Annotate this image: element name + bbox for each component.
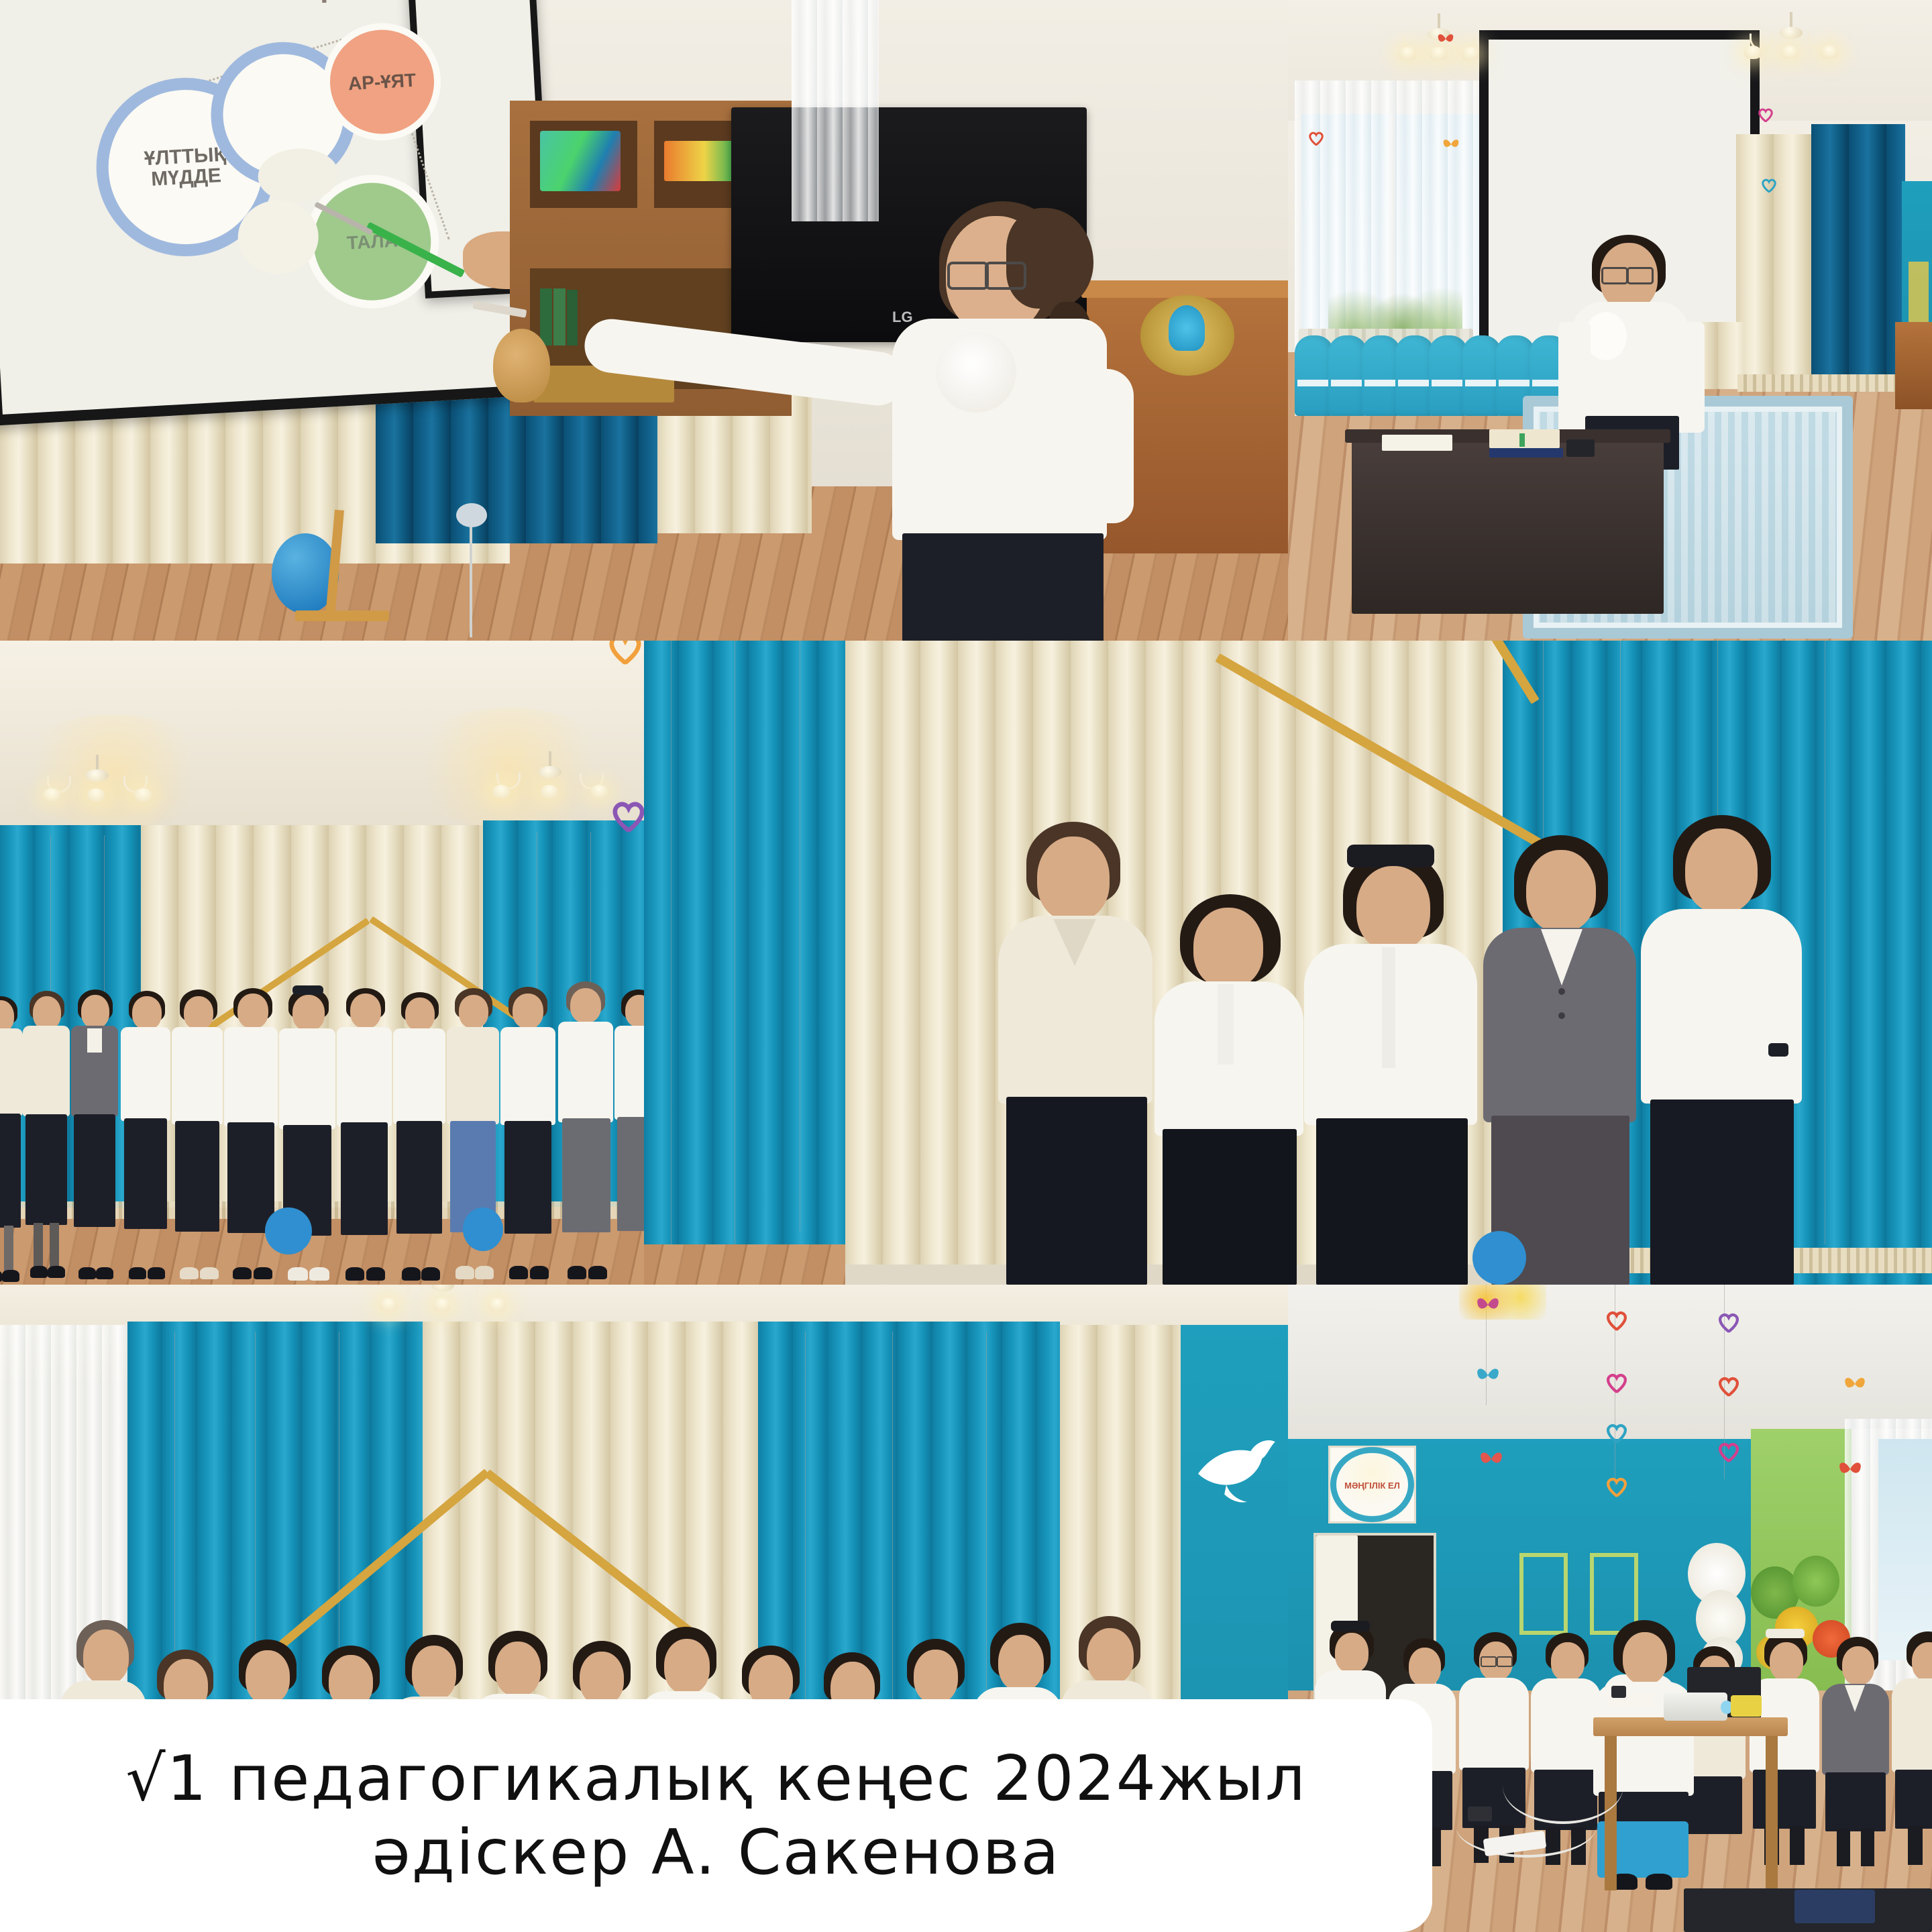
photo-hall-presenter-desk [1288,0,1932,641]
list-item [337,988,392,1285]
slide-title: ЫҚТАРЫ [270,0,431,7]
presenter-person [792,201,1194,641]
list-item [614,989,644,1285]
list-item [393,989,445,1285]
photo-group-five [644,641,1932,1285]
dove-decor [1189,1412,1283,1513]
list-item [121,989,170,1285]
list-item [172,989,223,1285]
list-item [558,985,613,1285]
list-item [1301,837,1481,1285]
chandelier-right [1744,12,1838,93]
heart-decor [1605,1310,1628,1331]
bubble-label-2: АР-ҰЯТ [347,70,417,93]
caption-line-1: √1 педагогикалық кеңес 2024жыл [125,1742,1306,1816]
photo-group-large-left [0,641,644,1285]
list-item [1892,1629,1932,1865]
caption-line-2: әдіскер А. Сакенова [372,1816,1060,1890]
butterfly-decor [1476,1295,1500,1314]
list-item [0,996,23,1285]
list-item [1822,1631,1889,1865]
list-item [1750,1629,1819,1865]
photo-collage: ЫҚТАРЫ ҰЛТТЫҚ МҮДДЕ АР-ҰЯТ ТАЛА [0,0,1932,1932]
butterfly-decor [1437,32,1454,46]
poster-title: МӘҢГІЛІК ЕЛ [1336,1481,1408,1491]
wall-poster-mangilik-el: МӘҢГІЛІК ЕЛ [1328,1446,1416,1523]
list-item [500,987,555,1285]
list-item [71,989,118,1285]
heart-decor [1308,131,1324,146]
standing-presenter [1553,235,1707,456]
list-item [1150,855,1308,1285]
projector [1664,1693,1727,1721]
group-people-row [0,989,644,1285]
list-item [23,989,70,1285]
caption-banner: √1 педагогикалық кеңес 2024жыл әдіскер А… [0,1699,1432,1932]
photo-slide-presentation: ЫҚТАРЫ ҰЛТТЫҚ МҮДДЕ АР-ҰЯТ ТАЛА [0,0,1288,641]
five-people-row [993,822,1865,1285]
list-item [993,822,1161,1285]
chandelier-left [1399,13,1479,87]
bubble-label-1: ҰЛТТЫҚ МҮДДЕ [144,144,227,191]
list-item [1637,815,1805,1285]
list-item [1479,827,1640,1285]
